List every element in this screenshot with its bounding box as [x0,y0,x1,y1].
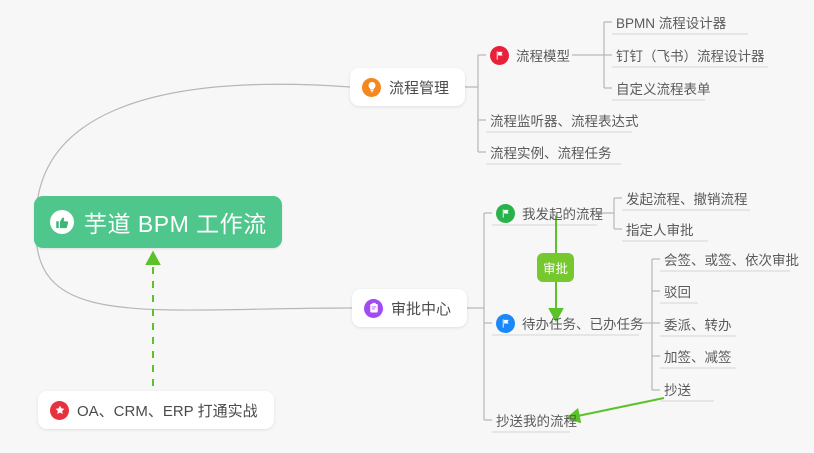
node-label: 驳回 [664,281,691,301]
node-custom-process-form[interactable]: 自定义流程表单 [614,75,717,101]
node-todo-done[interactable]: 待办任务、已办任务 [494,310,650,336]
mindmap-canvas: 芋道 BPM 工作流 流程管理 流程模型 BPMN 流程设计器 钉钉（飞书）流程… [0,0,814,453]
branch-label: 流程管理 [389,77,449,98]
node-label: 委派、转办 [664,314,732,334]
flag-icon-green [496,204,515,223]
root-node[interactable]: 芋道 BPM 工作流 [34,196,282,248]
node-listener-expression[interactable]: 流程监听器、流程表达式 [488,107,645,133]
node-label: 抄送我的流程 [496,410,577,430]
node-process-model[interactable]: 流程模型 [488,42,576,68]
integration-label: OA、CRM、ERP 打通实战 [77,400,258,421]
node-label: 发起流程、撤销流程 [626,188,748,208]
node-dingtalk-feishu-designer[interactable]: 钉钉（飞书）流程设计器 [614,42,771,68]
node-label: 自定义流程表单 [616,78,711,98]
node-label: 加签、减签 [664,346,732,366]
approval-flow-tag[interactable]: 审批 [537,253,574,282]
flag-icon-blue [496,314,515,333]
node-label: 会签、或签、依次审批 [664,249,799,269]
node-my-initiated[interactable]: 我发起的流程 [494,200,609,226]
root-label: 芋道 BPM 工作流 [84,205,267,239]
node-label: BPMN 流程设计器 [616,12,726,32]
branch-node-approval-center[interactable]: 审批中心 [352,289,467,327]
integration-node[interactable]: OA、CRM、ERP 打通实战 [38,391,274,429]
node-reject[interactable]: 驳回 [662,278,697,304]
clipboard-icon [364,299,383,318]
node-label: 指定人审批 [626,219,694,239]
star-icon [50,401,69,420]
node-label: 流程实例、流程任务 [490,142,612,162]
node-label: 待办任务、已办任务 [522,313,644,333]
branch-node-process-mgmt[interactable]: 流程管理 [350,68,465,106]
node-cc[interactable]: 抄送 [662,376,697,402]
node-label: 抄送 [664,379,691,399]
node-assignee-approval[interactable]: 指定人审批 [624,216,700,242]
node-label: 流程模型 [516,45,570,65]
node-label: 我发起的流程 [522,203,603,223]
approval-flow-tag-label: 审批 [543,258,568,277]
node-label: 流程监听器、流程表达式 [490,110,639,130]
node-start-cancel[interactable]: 发起流程、撤销流程 [624,185,754,211]
node-add-remove-sign[interactable]: 加签、减签 [662,343,738,369]
node-instance-task[interactable]: 流程实例、流程任务 [488,139,618,165]
node-delegate-transfer[interactable]: 委派、转办 [662,311,738,337]
node-label: 钉钉（飞书）流程设计器 [616,45,765,65]
node-counter-or-sequential[interactable]: 会签、或签、依次审批 [662,246,805,272]
branch-label: 审批中心 [391,298,451,319]
flag-icon-red [490,46,509,65]
node-cc-to-me[interactable]: 抄送我的流程 [494,407,583,433]
node-bpmn-designer[interactable]: BPMN 流程设计器 [614,9,732,35]
thumbs-up-icon [50,210,74,234]
lightbulb-icon [362,78,381,97]
